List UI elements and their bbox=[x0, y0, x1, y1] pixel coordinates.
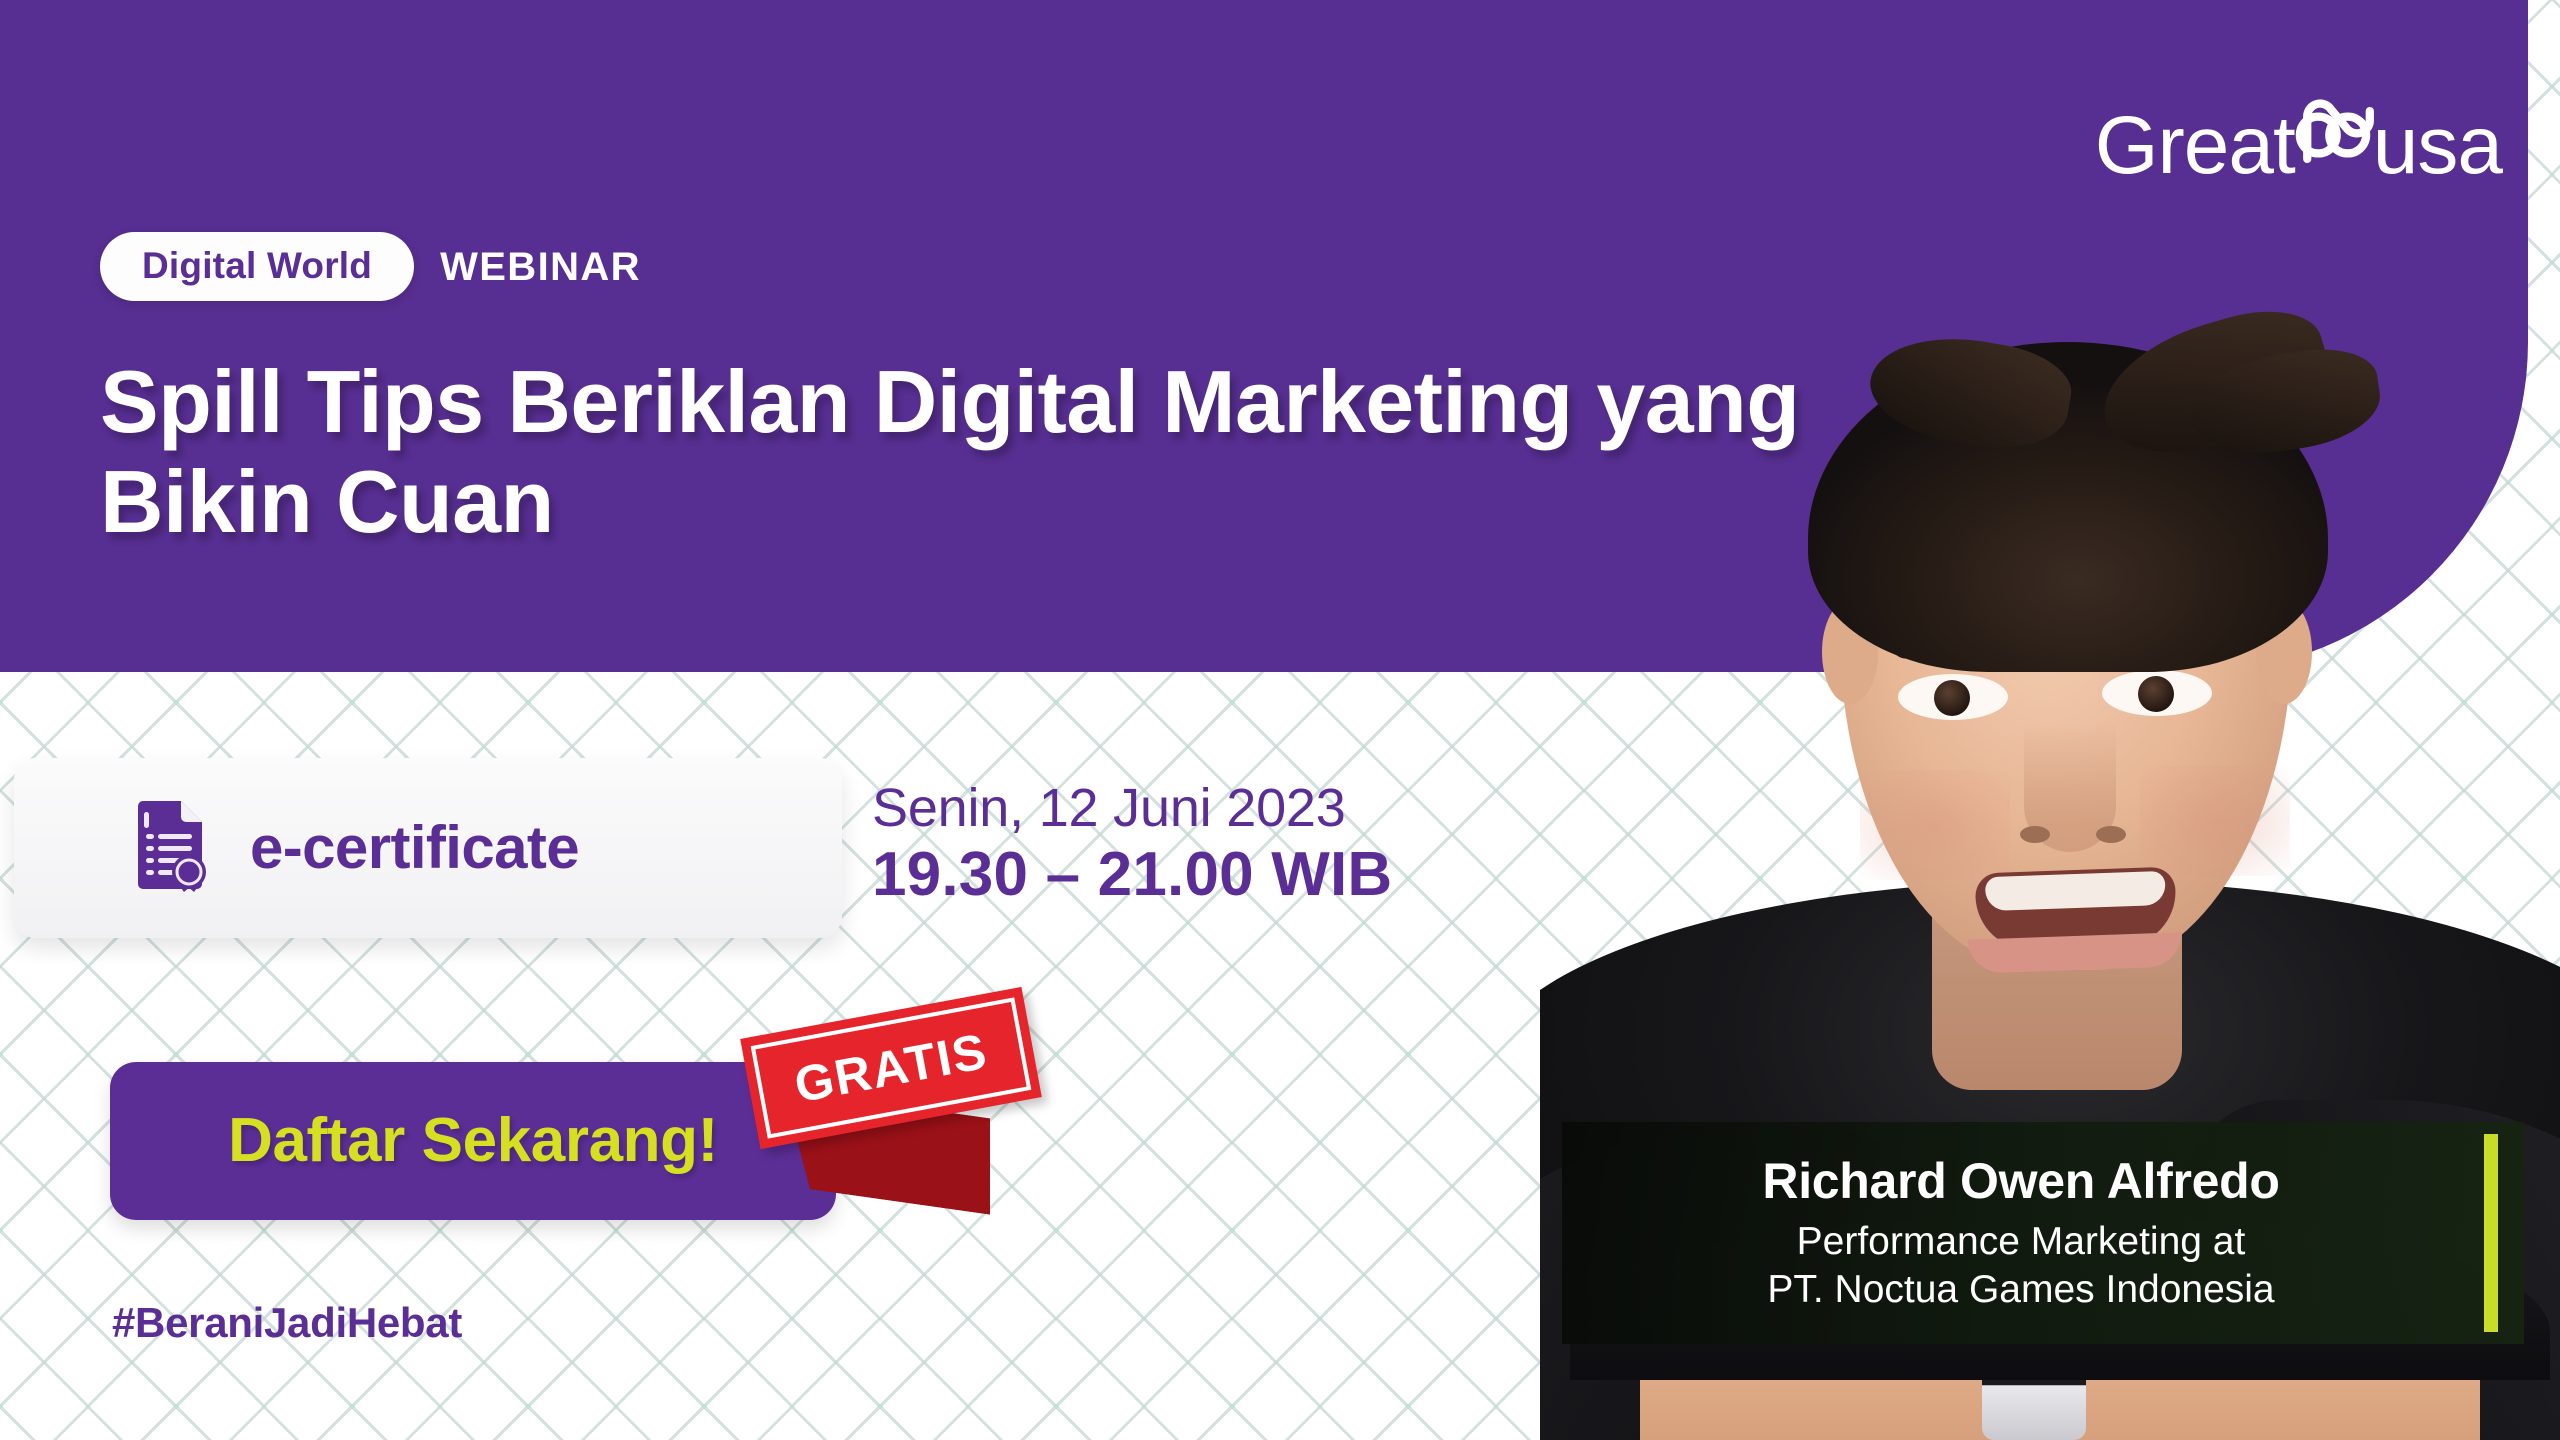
teeth-shape bbox=[1985, 871, 2166, 911]
category-pill: Digital World bbox=[100, 232, 414, 301]
speaker-nameplate: Richard Owen Alfredo Performance Marketi… bbox=[1562, 1122, 2524, 1344]
certificate-card: e-certificate bbox=[14, 758, 842, 938]
right-iris bbox=[2138, 676, 2174, 712]
ribbon-shape: GRATIS bbox=[740, 987, 1042, 1149]
greatnusa-logo[interactable]: Great usa bbox=[2095, 86, 2502, 182]
event-type-label: WEBINAR bbox=[440, 247, 641, 287]
right-eye bbox=[2102, 670, 2212, 716]
event-time: 19.30 – 21.00 WIB bbox=[872, 838, 1392, 911]
category-row: Digital World WEBINAR bbox=[100, 232, 641, 301]
certificate-document-icon bbox=[134, 800, 208, 896]
register-button-label: Daftar Sekarang! bbox=[228, 1110, 718, 1172]
right-cheek-shading bbox=[2140, 766, 2290, 876]
speaker-role-line-2: PT. Noctua Games Indonesia bbox=[1767, 1266, 2274, 1314]
campaign-hashtag: #BeraniJadiHebat bbox=[112, 1302, 462, 1344]
event-date: Senin, 12 Juni 2023 bbox=[872, 778, 1392, 838]
left-nostril bbox=[2020, 826, 2050, 843]
register-button[interactable]: Daftar Sekarang! bbox=[110, 1062, 836, 1220]
right-nostril bbox=[2096, 826, 2126, 843]
logo-text-right: usa bbox=[2373, 105, 2502, 187]
speaker-role-line-1: Performance Marketing at bbox=[1797, 1218, 2246, 1266]
webinar-promo-banner: Great usa Digital World WEBINAR Spill Ti… bbox=[0, 0, 2560, 1440]
schedule-block: Senin, 12 Juni 2023 19.30 – 21.00 WIB bbox=[872, 778, 1392, 912]
speaker-name: Richard Owen Alfredo bbox=[1762, 1152, 2279, 1210]
infinity-n-mark-icon bbox=[2287, 89, 2379, 181]
certificate-label: e-certificate bbox=[250, 818, 579, 878]
page-title: Spill Tips Beriklan Digital Marketing ya… bbox=[100, 352, 1860, 553]
left-iris bbox=[1934, 680, 1970, 716]
logo-text-left: Great bbox=[2095, 105, 2295, 187]
free-badge-label: GRATIS bbox=[791, 1026, 992, 1111]
left-eye bbox=[1898, 674, 2008, 720]
free-badge: GRATIS bbox=[748, 1000, 1078, 1190]
left-cheek-shading bbox=[1860, 770, 2010, 880]
